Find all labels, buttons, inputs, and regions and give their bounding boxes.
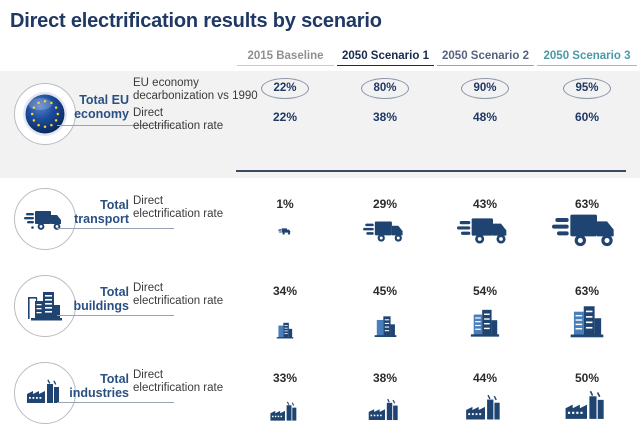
pictogram-buildings-scenario-2 bbox=[435, 307, 535, 339]
pictogram-truck-baseline bbox=[235, 226, 335, 236]
metric-line1: Direct bbox=[133, 107, 163, 119]
value-label: 34% bbox=[235, 284, 335, 298]
pictogram-factory-scenario-2 bbox=[435, 393, 535, 425]
table-row: Total EU economy EU economy decarbonizat… bbox=[0, 71, 640, 178]
pictogram-buildings-scenario-3 bbox=[537, 303, 637, 340]
value-label: 38% bbox=[335, 371, 435, 385]
status-badge: 22% bbox=[261, 78, 309, 99]
column-header-scenario-2[interactable]: 2050 Scenario 2 bbox=[437, 50, 534, 66]
column-header-scenario-1[interactable]: 2050 Scenario 1 bbox=[337, 50, 434, 66]
status-badge: 80% bbox=[361, 78, 409, 99]
value-label: 22% bbox=[235, 110, 335, 124]
metric-line2: decarbonization vs 1990 bbox=[133, 90, 258, 102]
value-label: 44% bbox=[435, 371, 535, 385]
category-label-industries: Total industries bbox=[57, 372, 129, 400]
value-label: 54% bbox=[435, 284, 535, 298]
table-row: Total industries Direct electrification … bbox=[0, 352, 640, 425]
metric-label-electrification: Direct electrification rate bbox=[133, 282, 223, 308]
column-header-baseline[interactable]: 2015 Baseline bbox=[237, 50, 334, 66]
table-row: Total buildings Direct electrification r… bbox=[0, 265, 640, 352]
category-label-line2: transport bbox=[74, 212, 129, 226]
category-underline bbox=[57, 315, 174, 316]
pictogram-buildings-baseline bbox=[235, 321, 335, 340]
column-headers: 2015 Baseline 2050 Scenario 1 2050 Scena… bbox=[0, 50, 640, 68]
metric-label-electrification: Direct electrification rate bbox=[133, 195, 223, 221]
metric-line2: electrification rate bbox=[133, 208, 223, 220]
category-label-transport: Total transport bbox=[57, 198, 129, 226]
category-underline bbox=[57, 228, 174, 229]
table-row: Total transport Direct electrification r… bbox=[0, 178, 640, 265]
category-label-eu-economy: Total EU economy bbox=[57, 93, 129, 121]
value-label: 45% bbox=[335, 284, 435, 298]
metric-line2: electrification rate bbox=[133, 382, 223, 394]
pictogram-factory-scenario-1 bbox=[335, 397, 435, 425]
category-label-line2: buildings bbox=[73, 299, 129, 313]
metric-label-electrification: Direct electrification rate bbox=[133, 369, 223, 395]
pictogram-truck-scenario-2 bbox=[435, 209, 535, 249]
status-badge: 90% bbox=[461, 78, 509, 99]
infographic-root: Direct electrification results by scenar… bbox=[0, 0, 640, 425]
category-label-line2: industries bbox=[69, 386, 129, 400]
category-label-buildings: Total buildings bbox=[57, 285, 129, 313]
category-label-line1: Total bbox=[100, 198, 129, 212]
category-label-line1: Total EU bbox=[79, 93, 129, 107]
metric-line1: Direct bbox=[133, 282, 163, 294]
metric-label-electrification: Direct electrification rate bbox=[133, 107, 223, 133]
pictogram-factory-baseline bbox=[235, 400, 335, 425]
category-label-line1: Total bbox=[100, 372, 129, 386]
value-label: 33% bbox=[235, 371, 335, 385]
value-label: 1% bbox=[235, 197, 335, 211]
category-label-line2: economy bbox=[74, 107, 129, 121]
metric-line1: Direct bbox=[133, 369, 163, 381]
value-label: 48% bbox=[435, 110, 535, 124]
pictogram-factory-scenario-3 bbox=[537, 389, 637, 425]
metric-line2: electrification rate bbox=[133, 295, 223, 307]
value-label: 60% bbox=[537, 110, 637, 124]
value-label: 29% bbox=[335, 197, 435, 211]
value-label: 50% bbox=[537, 371, 637, 385]
column-header-scenario-3[interactable]: 2050 Scenario 3 bbox=[537, 50, 637, 66]
value-label: 38% bbox=[335, 110, 435, 124]
bar-baseline-axis bbox=[236, 170, 626, 172]
metric-label-decarbonization: EU economy decarbonization vs 1990 bbox=[133, 77, 258, 103]
metric-line2: electrification rate bbox=[133, 120, 223, 132]
page-title: Direct electrification results by scenar… bbox=[10, 10, 382, 33]
status-badge: 95% bbox=[563, 78, 611, 99]
category-underline bbox=[57, 402, 174, 403]
pictogram-truck-scenario-3 bbox=[537, 203, 637, 253]
value-label: 63% bbox=[537, 284, 637, 298]
category-label-line1: Total bbox=[100, 285, 129, 299]
metric-line1: Direct bbox=[133, 195, 163, 207]
pictogram-truck-scenario-1 bbox=[335, 214, 435, 246]
metric-line1: EU economy bbox=[133, 77, 199, 89]
pictogram-buildings-scenario-1 bbox=[335, 314, 435, 339]
